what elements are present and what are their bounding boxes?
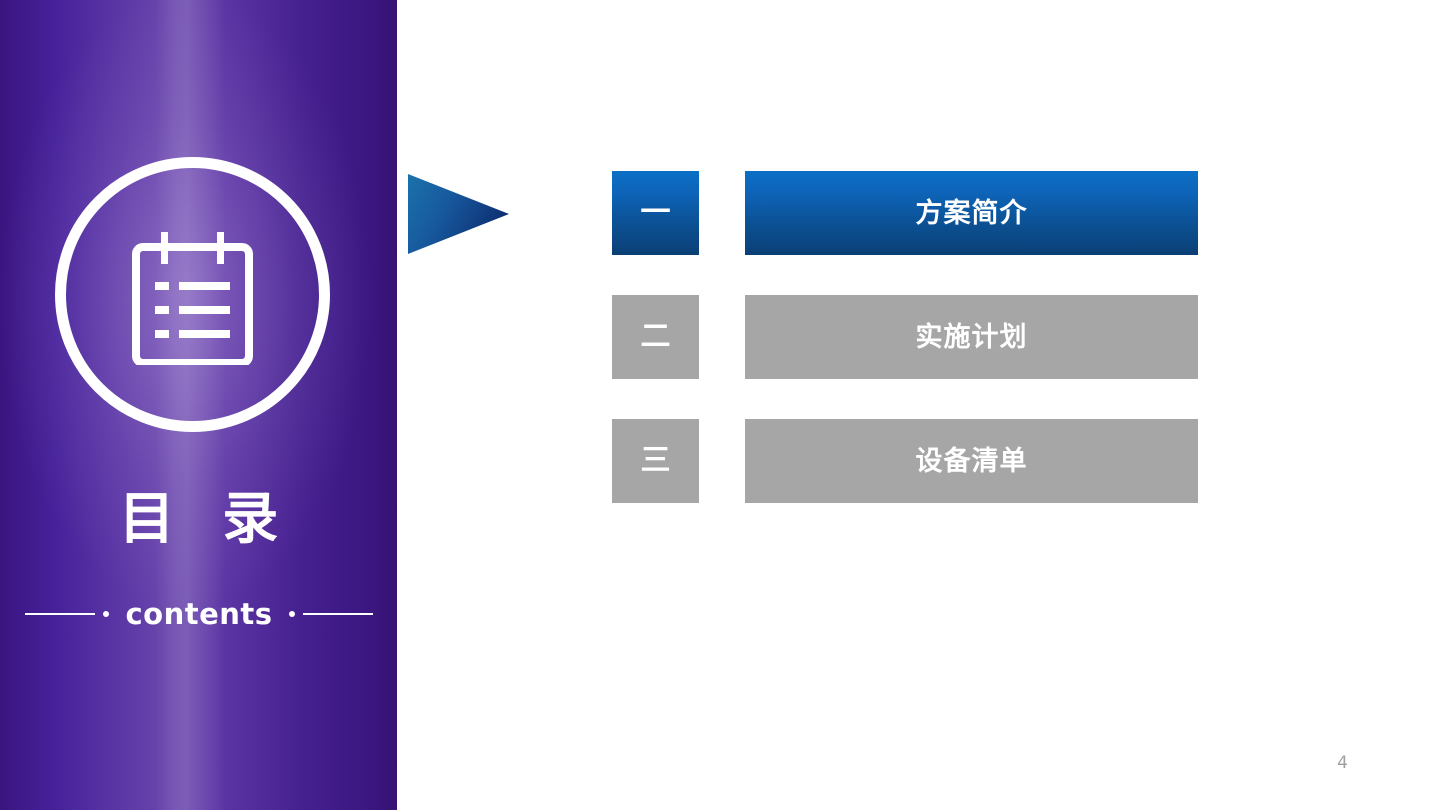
slide-canvas: 目 录 contents 一 方案简介 (0, 0, 1440, 810)
right-rule-line (303, 613, 373, 615)
contents-label: contents (117, 597, 280, 631)
agenda-item-2-title-bar[interactable]: 实施计划 (745, 295, 1198, 379)
agenda-item-2-number-box[interactable]: 二 (612, 295, 699, 379)
agenda-item-1[interactable]: 一 方案简介 (612, 171, 1198, 255)
agenda-item-2-label: 实施计划 (916, 324, 1028, 351)
clipboard-checklist-icon (125, 230, 260, 365)
agenda-item-3-title-bar[interactable]: 设备清单 (745, 419, 1198, 503)
left-rule-line (25, 613, 95, 615)
right-dot-marker (289, 611, 295, 617)
agenda-item-2[interactable]: 二 实施计划 (612, 295, 1198, 379)
agenda-item-1-label: 方案简介 (916, 200, 1028, 227)
agenda-item-3-number: 三 (641, 446, 671, 476)
agenda-item-3-number-box[interactable]: 三 (612, 419, 699, 503)
contents-subtitle-row: contents (34, 592, 364, 636)
agenda-item-1-number: 一 (641, 198, 671, 228)
page-number: 4 (1337, 753, 1348, 773)
panel-title-mulu: 目 录 (0, 492, 397, 548)
agenda-item-2-number: 二 (641, 322, 671, 352)
agenda-item-1-number-box[interactable]: 一 (612, 171, 699, 255)
agenda-item-3[interactable]: 三 设备清单 (612, 419, 1198, 503)
left-dot-marker (103, 611, 109, 617)
play-triangle-icon (408, 174, 509, 254)
agenda-item-1-title-bar[interactable]: 方案简介 (745, 171, 1198, 255)
agenda-item-3-label: 设备清单 (916, 448, 1028, 475)
agenda-menu-list: 一 方案简介 二 实施计划 三 设备清单 (612, 171, 1198, 503)
